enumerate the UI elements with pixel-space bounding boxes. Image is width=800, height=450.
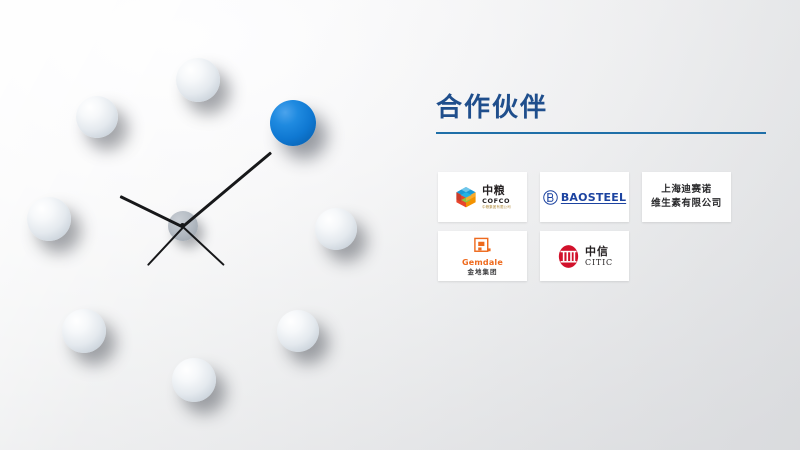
citic-logo: 中信 CITIC [556,244,613,269]
partner-card-cofco[interactable]: 中粮 COFCO 中粮集团有限公司 [438,172,527,222]
gemdale-square-icon [473,237,492,256]
baosteel-logo: BAOSTEEL [543,190,626,205]
clock-second-hand [182,226,225,266]
sphere-shape [76,96,118,138]
sphere-shape [27,197,71,241]
partner-logo-grid: 中粮 COFCO 中粮集团有限公司 BAOSTEEL [438,172,778,290]
cofco-cube-icon [454,185,478,209]
sphere-shape [176,58,220,102]
clock-counter-hand [147,226,184,266]
clock-minute-hand [182,151,272,227]
baosteel-emblem-icon [543,190,558,205]
clock-ball-hour-10 [27,197,71,241]
sphere-shape [270,100,316,146]
clock-ball-hour-12 [176,58,220,102]
sphere-shape [172,358,216,402]
clock-ball-hour-2 [315,208,357,250]
clock-ball-hour-11 [76,96,118,138]
sphere-shape [277,310,319,352]
page-title: 合作伙伴 [436,94,768,124]
desano-line-1: 上海迪赛诺 [651,183,722,197]
clock-ball-hour-8 [172,358,216,402]
clock-ball-hour-1-highlight [270,100,316,146]
slide-canvas: 合作伙伴 中 [0,0,800,450]
sphere-shape [315,208,357,250]
baosteel-wordmark: BAOSTEEL [561,191,626,204]
cofco-wordmark: 中粮 COFCO 中粮集团有限公司 [482,185,511,209]
gemdale-name-cn: 金地集团 [468,269,498,276]
partner-card-citic[interactable]: 中信 CITIC [540,231,629,281]
citic-wordmark: 中信 CITIC [585,246,613,267]
title-underline-rule [436,132,766,134]
cofco-name-cn: 中粮 [482,185,505,196]
gemdale-name-en: Gemdale [462,259,503,267]
clock-ball-hour-9 [62,309,106,353]
partner-logo-row: Gemdale 金地集团 中 [438,231,778,281]
partner-card-baosteel[interactable]: BAOSTEEL [540,172,629,222]
partners-panel-header: 合作伙伴 [432,94,768,134]
desano-wordmark: 上海迪赛诺 维生素有限公司 [651,183,722,211]
clock-center-pin [180,223,185,228]
citic-emblem-icon [556,244,581,269]
partner-card-gemdale[interactable]: Gemdale 金地集团 [438,231,527,281]
clock-hour-hand [120,195,184,228]
cofco-tagline: 中粮集团有限公司 [482,206,511,209]
partner-card-shanghai-desano[interactable]: 上海迪赛诺 维生素有限公司 [642,172,731,222]
citic-name-en: CITIC [585,259,613,267]
desano-line-2: 维生素有限公司 [651,197,722,211]
cofco-name-en: COFCO [482,198,510,205]
cofco-logo: 中粮 COFCO 中粮集团有限公司 [454,185,511,209]
sphere-shape [62,309,106,353]
gemdale-logo: Gemdale 金地集团 [462,237,503,276]
partner-logo-row: 中粮 COFCO 中粮集团有限公司 BAOSTEEL [438,172,778,222]
citic-name-cn: 中信 [585,246,609,257]
clock-ball-hour-7 [277,310,319,352]
wall-clock-illustration [0,0,400,450]
